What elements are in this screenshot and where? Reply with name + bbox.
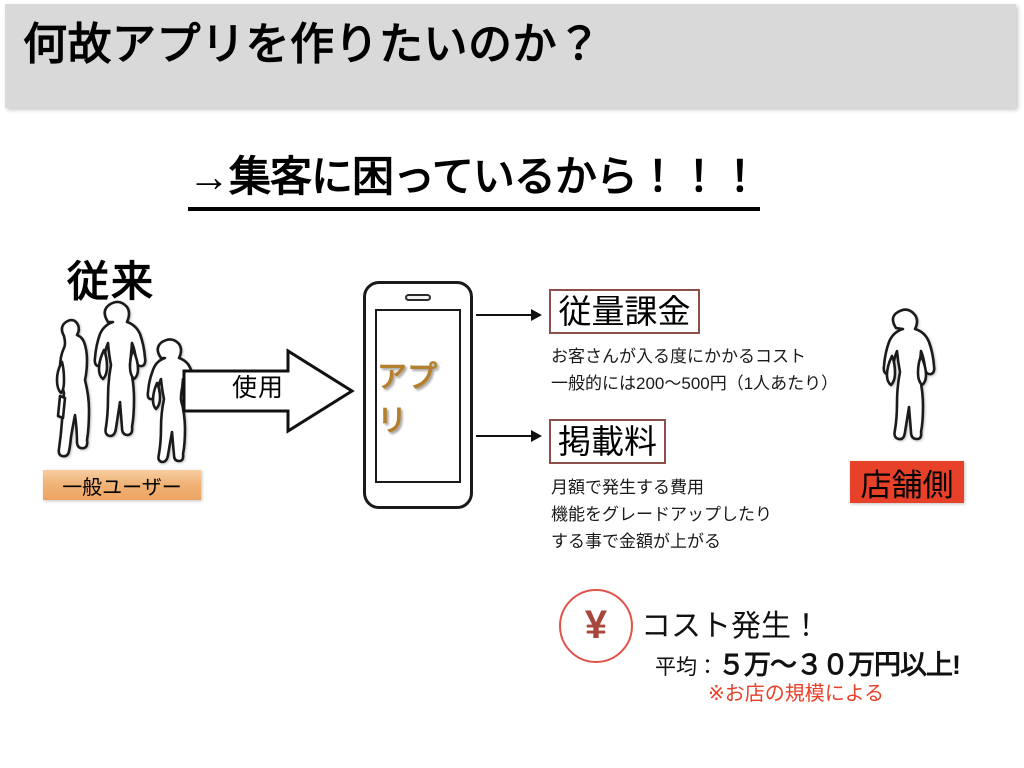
phone-speaker-icon bbox=[405, 294, 431, 301]
connector-arrow-to-listing-fee bbox=[476, 429, 542, 443]
chip-general-user: 一般ユーザー bbox=[43, 470, 201, 500]
phone-screen: アプリ bbox=[375, 309, 461, 483]
cost-headline: コスト発生！ bbox=[641, 601, 821, 645]
metered-billing-desc-line-1: お客さんが入る度にかかるコスト bbox=[551, 345, 806, 370]
box-listing-fee-label: 掲載料 bbox=[558, 425, 657, 458]
yen-symbol: ¥ bbox=[585, 605, 607, 645]
three-people-silhouette-icon bbox=[38, 300, 193, 470]
box-metered-billing-label: 従量課金 bbox=[559, 295, 691, 328]
metered-billing-desc-line-2: 一般的には200〜500円（1人あたり） bbox=[551, 372, 838, 397]
cost-note: ※お店の規模による bbox=[708, 677, 884, 706]
yen-circle-icon: ¥ bbox=[559, 589, 633, 663]
slide-header-bar: 何故アプリを作りたいのか？ bbox=[5, 4, 1016, 108]
cost-average-value: ５万〜３０万円以上! bbox=[718, 650, 960, 680]
chip-general-user-label: 一般ユーザー bbox=[62, 471, 182, 500]
connector-arrow-to-metered-billing bbox=[476, 308, 542, 322]
box-metered-billing: 従量課金 bbox=[549, 289, 700, 334]
phone-app-label: アプリ bbox=[377, 352, 459, 440]
chip-store-side-label: 店舗側 bbox=[861, 460, 954, 505]
use-arrow-label: 使用 bbox=[232, 368, 284, 404]
listing-fee-desc-line-1: 月額で発生する費用 bbox=[551, 476, 704, 501]
page-title: 何故アプリを作りたいのか？ bbox=[23, 22, 602, 68]
single-person-silhouette-icon bbox=[868, 310, 938, 450]
slide-subtitle: →集客に困っているから！！！ bbox=[188, 143, 760, 211]
chip-store-side: 店舗側 bbox=[850, 461, 964, 503]
listing-fee-desc-line-2: 機能をグレードアップしたり bbox=[551, 503, 772, 528]
listing-fee-desc-line-3: する事で金額が上がる bbox=[551, 530, 721, 555]
slide-canvas: 何故アプリを作りたいのか？ →集客に困っているから！！！ 従来 bbox=[0, 0, 1024, 768]
smartphone-icon: アプリ bbox=[363, 281, 473, 509]
cost-average-label: 平均： bbox=[655, 656, 718, 679]
box-listing-fee: 掲載料 bbox=[549, 419, 666, 464]
